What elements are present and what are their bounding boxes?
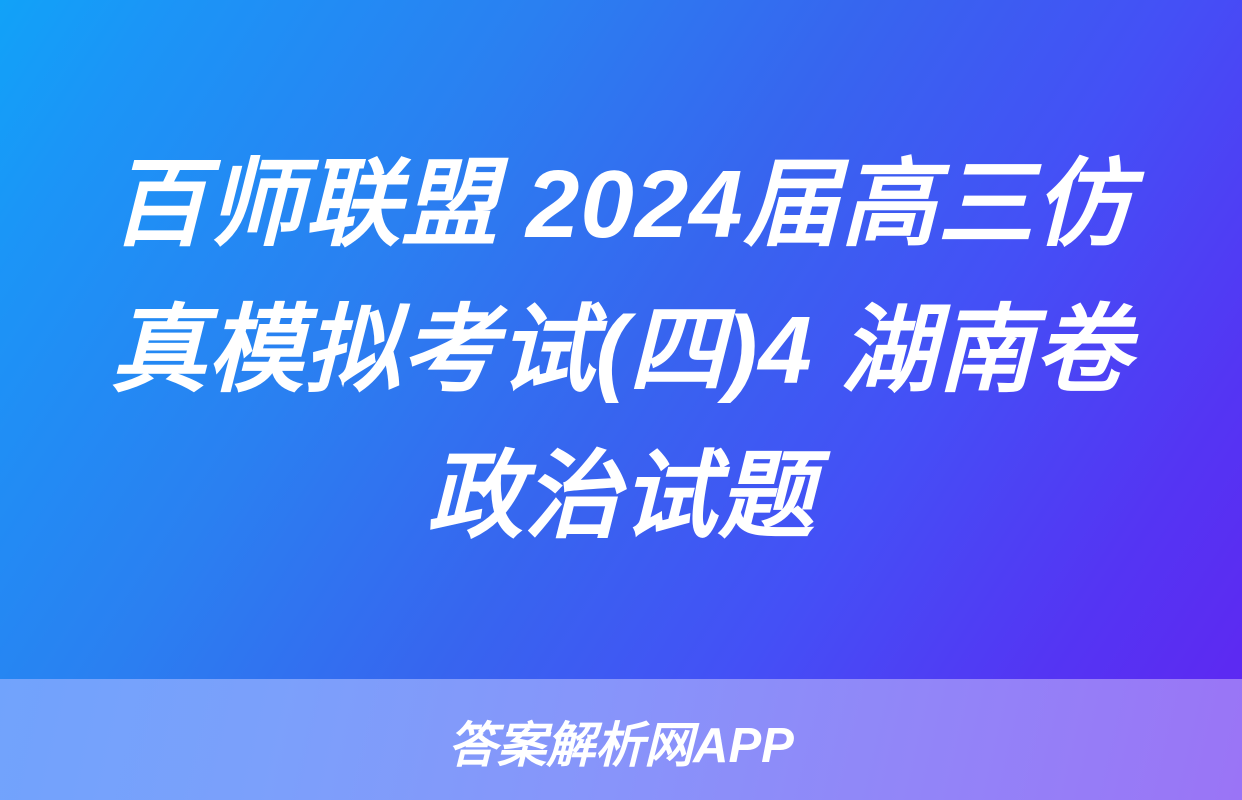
- footer-band: 答案解析网APP: [0, 679, 1242, 800]
- title-line-1: 百师联盟 2024届高三仿: [110, 132, 1131, 278]
- title-line-2: 真模拟考试(四)4 湖南卷: [111, 278, 1132, 424]
- title-line-3: 政治试题: [427, 424, 815, 570]
- exam-cover-card: 百师联盟 2024届高三仿 真模拟考试(四)4 湖南卷 政治试题 答案解析网AP…: [0, 0, 1242, 800]
- watermark-brand-label: 答案解析网APP: [448, 706, 794, 777]
- page-title: 百师联盟 2024届高三仿 真模拟考试(四)4 湖南卷 政治试题: [0, 0, 1242, 679]
